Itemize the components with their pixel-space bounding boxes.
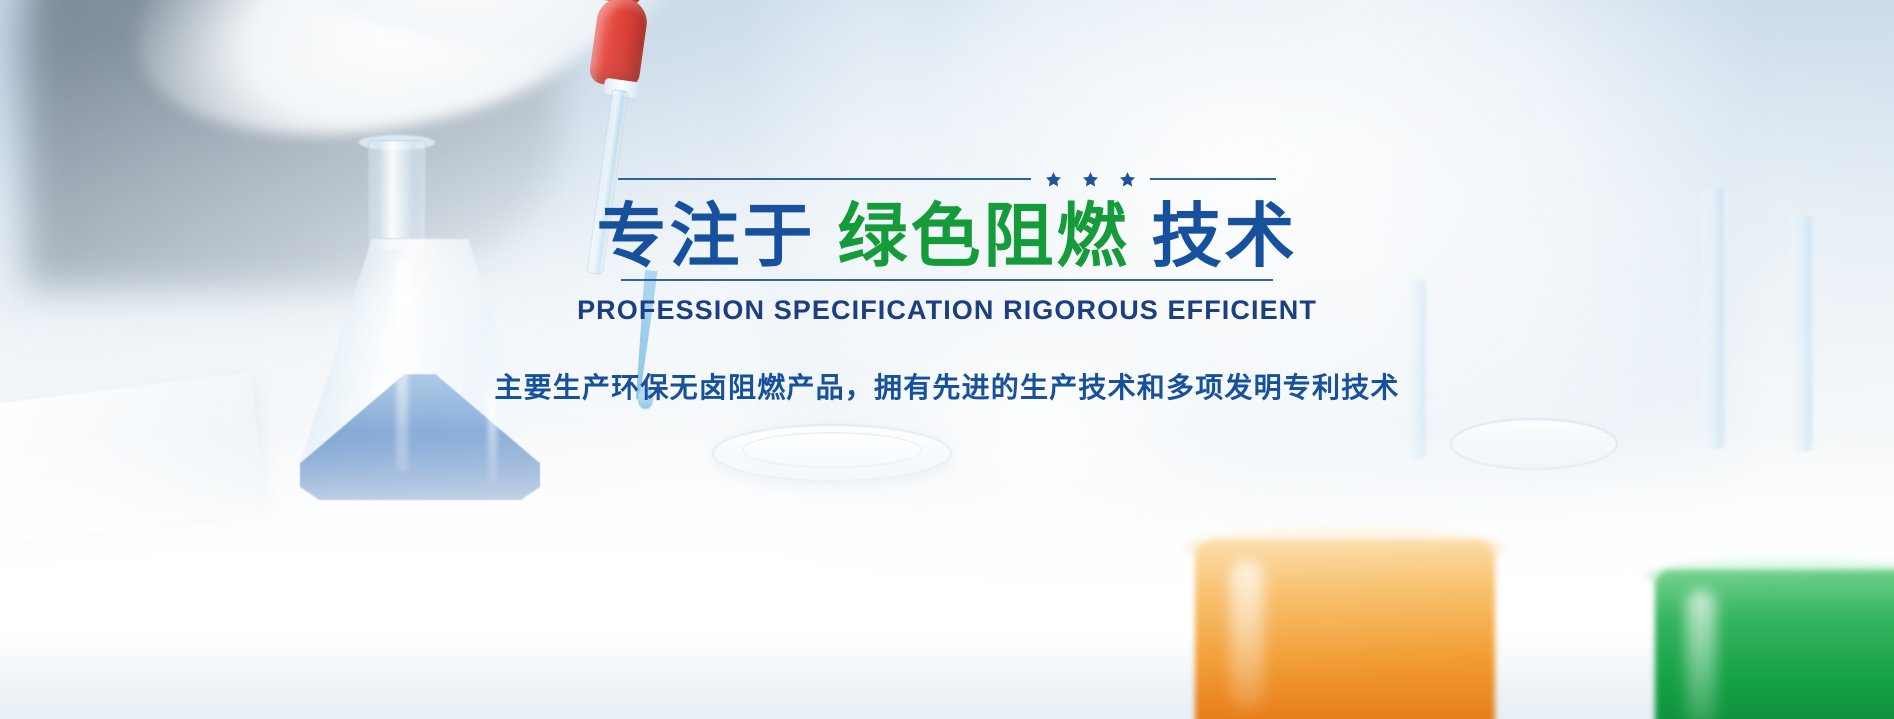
star-icon — [1082, 171, 1099, 188]
headline-part-3: 技术 — [1152, 195, 1298, 277]
pipette-red-bulb — [588, 0, 650, 89]
star-group — [1045, 171, 1136, 188]
headline-part-1: 专注于 — [597, 195, 816, 277]
page-title: 专注于绿色阻燃技术 — [597, 199, 1298, 275]
subtitle-english: PROFESSION SPECIFICATION RIGOROUS EFFICI… — [577, 295, 1317, 326]
green-beaker-highlight — [1686, 590, 1716, 719]
bench-edge-shadow — [0, 633, 1894, 719]
star-icon — [1119, 171, 1136, 188]
star-divider — [618, 168, 1276, 190]
headline-underline — [621, 279, 1273, 281]
headline-part-2: 绿色阻燃 — [838, 195, 1130, 277]
description-chinese: 主要生产环保无卤阻燃产品，拥有先进的生产技术和多项发明专利技术 — [494, 366, 1399, 406]
hero-banner: 专注于绿色阻燃技术 PROFESSION SPECIFICATION RIGOR… — [0, 0, 1894, 719]
star-icon — [1045, 171, 1062, 188]
divider-rule-right — [1150, 178, 1276, 180]
orange-beaker-highlight — [1230, 560, 1264, 710]
banner-text-block: 专注于绿色阻燃技术 PROFESSION SPECIFICATION RIGOR… — [0, 168, 1894, 406]
divider-rule-left — [618, 178, 1031, 180]
